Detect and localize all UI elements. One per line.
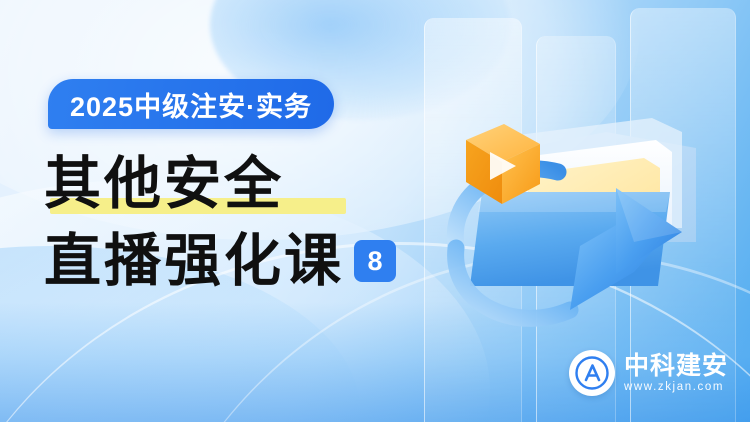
episode-number-badge: 8	[354, 240, 396, 282]
brand-logo-texts: 中科建安 www.zkjan.com	[624, 352, 728, 394]
headline-line-1: 其他安全	[44, 152, 444, 216]
course-tag-badge: 2025中级注安·实务	[48, 79, 334, 129]
brand-url: www.zkjan.com	[624, 380, 728, 394]
headline-block: 其他安全 直播强化课 8	[44, 152, 444, 294]
course-tag-label: 2025中级注安·实务	[70, 85, 312, 124]
brand-name: 中科建安	[624, 352, 728, 380]
headline-line-2: 直播强化课	[44, 229, 344, 293]
compass-logo-icon	[569, 350, 615, 396]
course-banner: 2025中级注安·实务 其他安全 直播强化课 8 中科建安 www.zkjan.…	[0, 0, 750, 422]
brand-logo: 中科建安 www.zkjan.com	[569, 350, 728, 396]
illustration-group	[420, 96, 720, 346]
headline-line-1-row: 其他安全	[44, 152, 444, 216]
headline-line-2-row: 直播强化课 8	[44, 228, 444, 294]
